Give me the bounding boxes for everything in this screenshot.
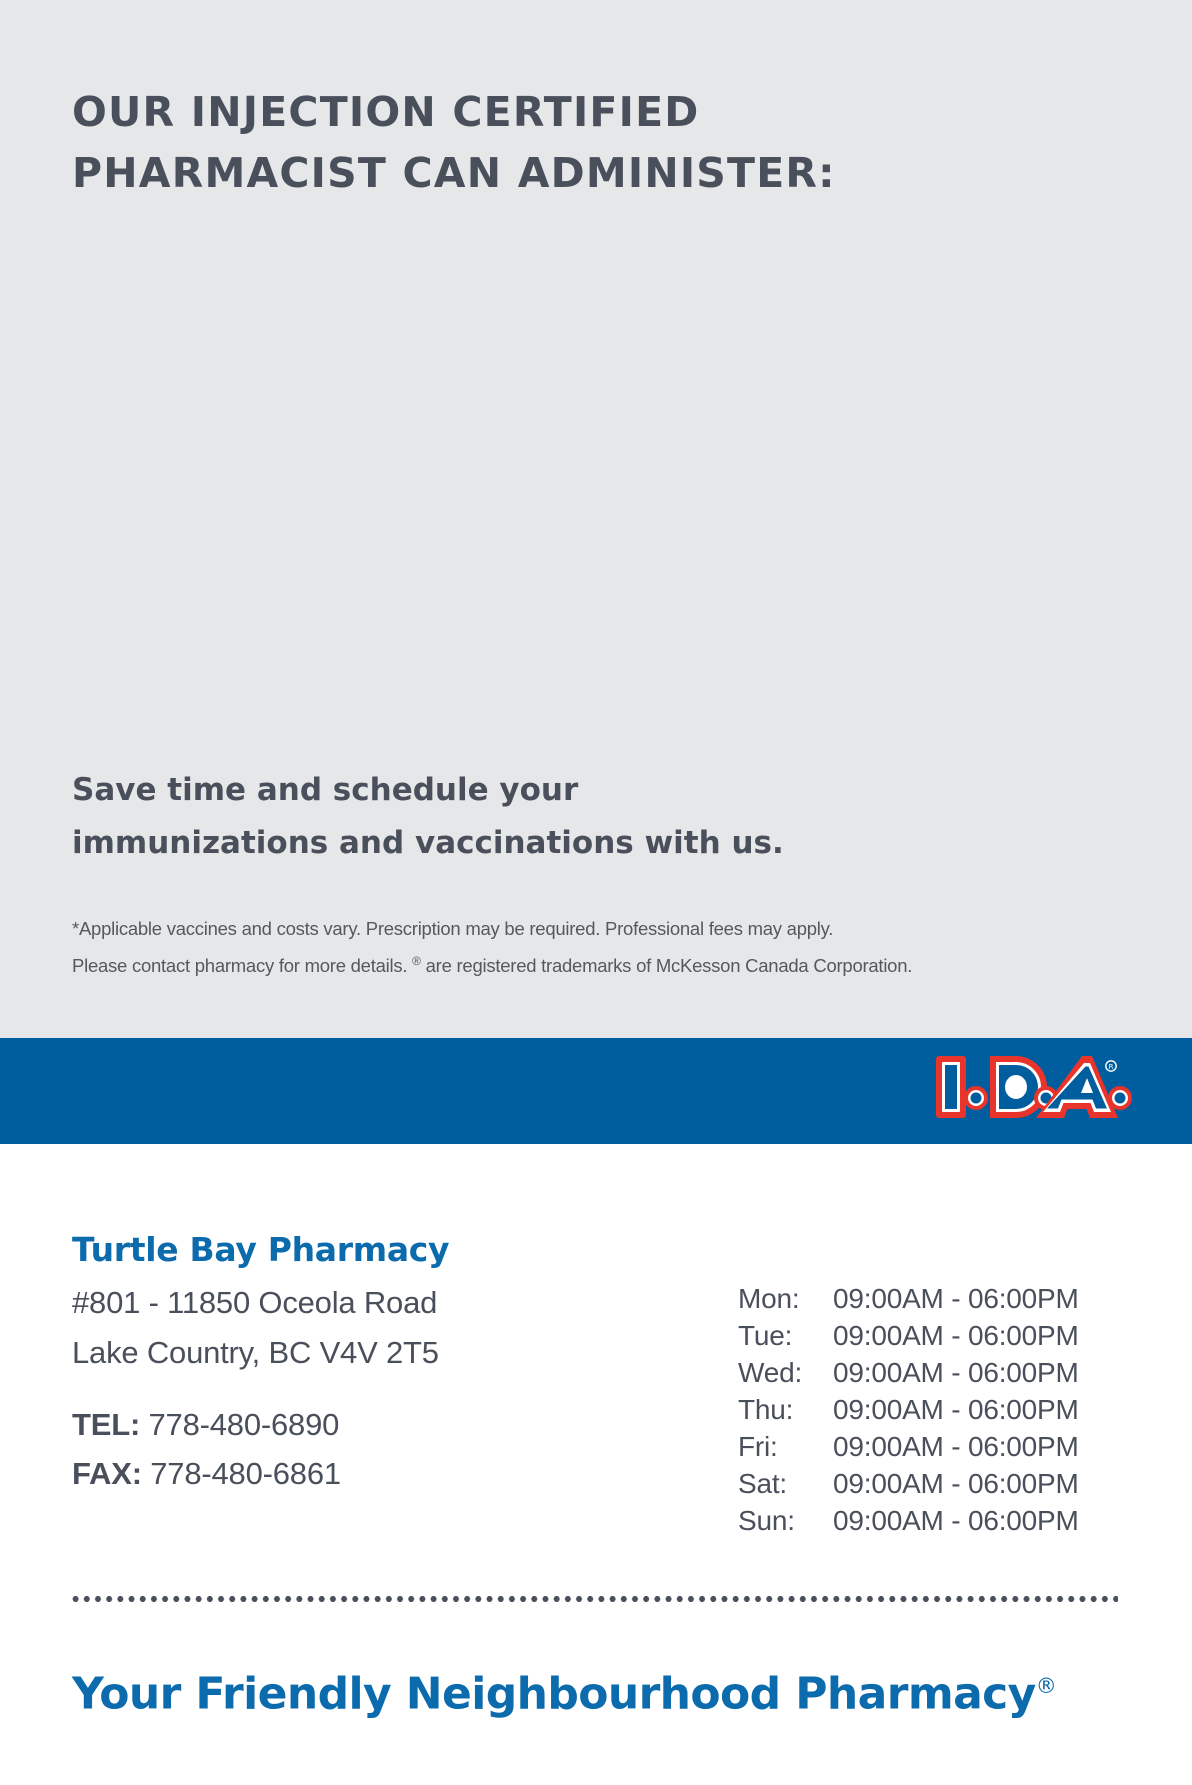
fax-row: FAX: 778-480-6861 bbox=[72, 1449, 712, 1498]
store-hours-table: Mon: 09:00AM - 06:00PM Tue: 09:00AM - 06… bbox=[738, 1280, 1138, 1539]
store-address: #801 - 11850 Oceola Road Lake Country, B… bbox=[72, 1278, 712, 1378]
store-address-line-1: #801 - 11850 Oceola Road bbox=[72, 1278, 712, 1328]
disclaimer-line-1: *Applicable vaccines and costs vary. Pre… bbox=[72, 913, 1102, 945]
tagline: Your Friendly Neighbourhood Pharmacy® bbox=[72, 1655, 1162, 1726]
subheading: Save time and schedule your immunization… bbox=[72, 764, 932, 870]
hours-day-label: Mon: bbox=[738, 1280, 833, 1317]
svg-text:R: R bbox=[1109, 1063, 1114, 1071]
hours-day-label: Sun: bbox=[738, 1502, 833, 1539]
hours-day-label: Tue: bbox=[738, 1317, 833, 1354]
hours-time-value: 09:00AM - 06:00PM bbox=[833, 1317, 1138, 1354]
store-contact: TEL: 778-480-6890 FAX: 778-480-6861 bbox=[72, 1400, 712, 1498]
store-details: Turtle Bay Pharmacy #801 - 11850 Oceola … bbox=[72, 1228, 712, 1498]
store-address-line-2: Lake Country, BC V4V 2T5 bbox=[72, 1328, 712, 1378]
hours-time-value: 09:00AM - 06:00PM bbox=[833, 1428, 1138, 1465]
pharmacy-flyer-page: OUR INJECTION CERTIFIED PHARMACIST CAN A… bbox=[0, 0, 1192, 1785]
store-name: Turtle Bay Pharmacy bbox=[72, 1228, 712, 1272]
hours-day-label: Thu: bbox=[738, 1391, 833, 1428]
hours-time-value: 09:00AM - 06:00PM bbox=[833, 1354, 1138, 1391]
disclaimer-text: *Applicable vaccines and costs vary. Pre… bbox=[72, 913, 1102, 982]
hours-time-value: 09:00AM - 06:00PM bbox=[833, 1280, 1138, 1317]
hours-row: Mon: 09:00AM - 06:00PM bbox=[738, 1280, 1138, 1317]
telephone-value[interactable]: 778-480-6890 bbox=[149, 1407, 340, 1442]
hours-row: Fri: 09:00AM - 06:00PM bbox=[738, 1428, 1138, 1465]
telephone-label: TEL: bbox=[72, 1407, 140, 1442]
hours-day-label: Sat: bbox=[738, 1465, 833, 1502]
disclaimer-line-2-before: Please contact pharmacy for more details… bbox=[72, 955, 412, 976]
tagline-registered-icon: ® bbox=[1036, 1674, 1057, 1698]
ida-logo: R bbox=[934, 1054, 1134, 1128]
hours-day-label: Wed: bbox=[738, 1354, 833, 1391]
fax-value: 778-480-6861 bbox=[150, 1456, 341, 1491]
subheading-line-1: Save time and schedule your bbox=[72, 764, 932, 817]
grey-content-panel: OUR INJECTION CERTIFIED PHARMACIST CAN A… bbox=[0, 0, 1192, 1038]
hours-row: Sun: 09:00AM - 06:00PM bbox=[738, 1502, 1138, 1539]
page-title: OUR INJECTION CERTIFIED PHARMACIST CAN A… bbox=[72, 82, 932, 204]
dotted-divider bbox=[70, 1596, 1118, 1602]
hours-row: Tue: 09:00AM - 06:00PM bbox=[738, 1317, 1138, 1354]
page-title-line-2: PHARMACIST CAN ADMINISTER: bbox=[72, 143, 932, 204]
registered-trademark-mark: ® bbox=[412, 954, 421, 968]
hours-day-label: Fri: bbox=[738, 1428, 833, 1465]
subheading-line-2: immunizations and vaccinations with us. bbox=[72, 817, 932, 870]
page-title-line-1: OUR INJECTION CERTIFIED bbox=[72, 82, 932, 143]
telephone-row: TEL: 778-480-6890 bbox=[72, 1400, 712, 1449]
brand-band: R bbox=[0, 1038, 1192, 1144]
tagline-text: Your Friendly Neighbourhood Pharmacy bbox=[72, 1669, 1036, 1720]
disclaimer-line-2: Please contact pharmacy for more details… bbox=[72, 945, 1102, 982]
disclaimer-line-2-after: are registered trademarks of McKesson Ca… bbox=[421, 955, 912, 976]
hours-time-value: 09:00AM - 06:00PM bbox=[833, 1465, 1138, 1502]
hours-row: Sat: 09:00AM - 06:00PM bbox=[738, 1465, 1138, 1502]
hours-row: Wed: 09:00AM - 06:00PM bbox=[738, 1354, 1138, 1391]
fax-label: FAX: bbox=[72, 1456, 142, 1491]
hours-time-value: 09:00AM - 06:00PM bbox=[833, 1502, 1138, 1539]
hours-row: Thu: 09:00AM - 06:00PM bbox=[738, 1391, 1138, 1428]
hours-time-value: 09:00AM - 06:00PM bbox=[833, 1391, 1138, 1428]
